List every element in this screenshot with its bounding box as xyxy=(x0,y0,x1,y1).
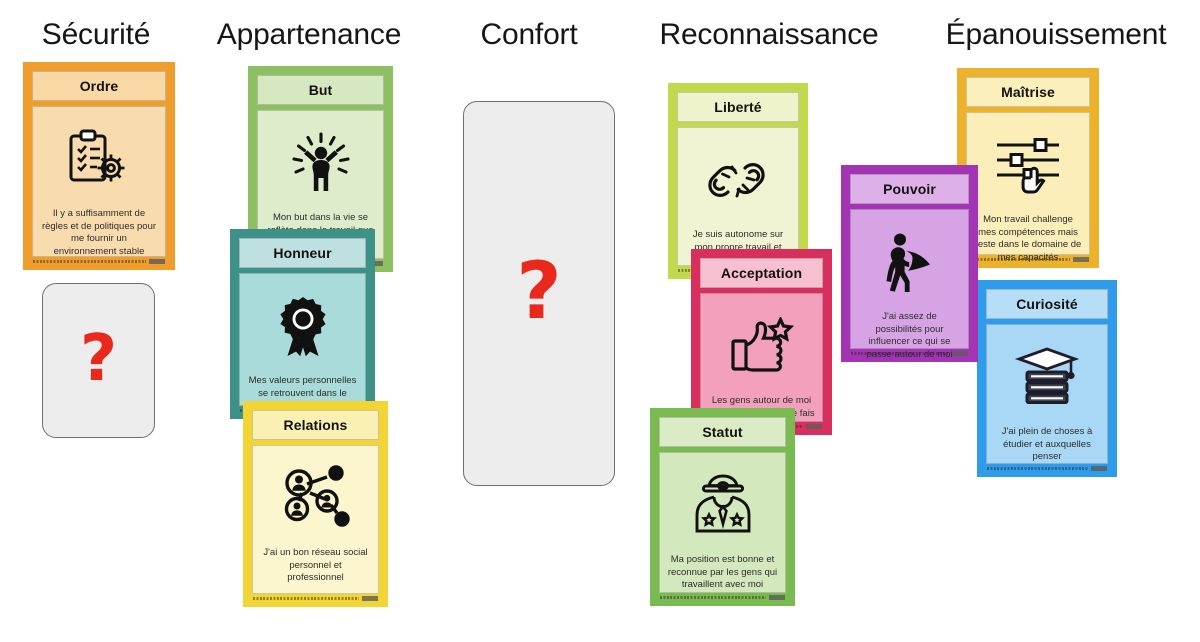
card-ordre[interactable]: Ordre Il y a suffisamment de rè xyxy=(23,62,175,270)
award-rosette-icon xyxy=(247,284,358,368)
card-title-bar: Ordre xyxy=(32,71,166,101)
column-heading-securite: Sécurité xyxy=(0,20,192,50)
footer-logo-mark xyxy=(1073,257,1089,262)
card-description: Il y a suffisamment de règles et de poli… xyxy=(40,208,158,258)
social-network-people-icon xyxy=(260,456,371,540)
footer-logo-mark xyxy=(1091,466,1107,471)
card-title: Maîtrise xyxy=(1001,85,1055,99)
card-title: Relations xyxy=(284,418,348,432)
card-body: J'ai assez de possibilités pour influenc… xyxy=(850,209,969,349)
card-title: But xyxy=(309,83,333,97)
footer-microtext xyxy=(33,260,146,263)
column-heading-reconnaissance: Reconnaissance xyxy=(628,20,910,50)
card-title: Curiosité xyxy=(1016,297,1078,311)
card-curiosite[interactable]: Curiosité xyxy=(977,280,1117,477)
card-title: Liberté xyxy=(714,100,761,114)
card-pouvoir[interactable]: Pouvoir J'ai assez de possibilités pour … xyxy=(841,165,978,362)
card-title-bar: Curiosité xyxy=(986,289,1108,319)
clipboard-checklist-gear-icon xyxy=(40,117,158,201)
card-footer xyxy=(31,257,167,266)
card-body: J'ai un bon réseau social personnel et p… xyxy=(252,445,379,594)
footer-microtext xyxy=(967,258,1070,261)
card-body: Mon travail challenge mes compétences ma… xyxy=(966,112,1090,255)
card-body: Il y a suffisamment de règles et de poli… xyxy=(32,106,166,257)
card-footer xyxy=(985,464,1109,473)
placeholder-card-securite[interactable]: ? xyxy=(42,283,155,438)
card-title: Honneur xyxy=(273,246,331,260)
placeholder-card-confort[interactable]: ? xyxy=(463,101,615,486)
card-title-bar: Liberté xyxy=(677,92,799,122)
card-title: Ordre xyxy=(80,79,119,93)
card-body: Mes valeurs personnelles se retrouvent d… xyxy=(239,273,366,406)
card-statut[interactable]: Statut Ma position est bonne et reconnue… xyxy=(650,408,795,606)
card-footer xyxy=(965,255,1091,264)
question-mark-icon: ? xyxy=(516,253,561,331)
superhero-cape-icon xyxy=(858,220,961,304)
footer-logo-mark xyxy=(769,595,785,600)
footer-logo-mark xyxy=(952,351,968,356)
column-heading-appartenance: Appartenance xyxy=(195,20,423,50)
card-footer xyxy=(849,349,970,358)
card-description: J'ai plein de choses à étudier et auxque… xyxy=(994,426,1100,464)
card-relations[interactable]: Relations xyxy=(243,401,388,607)
card-body: Ma position est bonne et reconnue par le… xyxy=(659,452,786,593)
card-title-bar: Pouvoir xyxy=(850,174,969,204)
celebrating-person-icon xyxy=(265,121,376,205)
card-title-bar: Statut xyxy=(659,417,786,447)
card-title-bar: Acceptation xyxy=(700,258,823,288)
card-footer xyxy=(251,594,380,603)
card-title: Acceptation xyxy=(721,266,802,280)
column-heading-epanouissement: Épanouissement xyxy=(912,20,1200,50)
card-title-bar: Relations xyxy=(252,410,379,440)
breaking-chain-icon xyxy=(685,138,791,222)
card-body: Je suis autonome sur mon propre travail … xyxy=(677,127,799,266)
card-honneur[interactable]: Honneur Mes valeurs personnelles se retr… xyxy=(230,229,375,419)
card-title-bar: Honneur xyxy=(239,238,366,268)
moving-motivators-board: Sécurité Appartenance Confort Reconnaiss… xyxy=(0,0,1200,642)
question-mark-icon: ? xyxy=(80,327,117,391)
card-maitrise[interactable]: Maîtrise Mon travail challenge mes compé… xyxy=(957,68,1099,268)
card-body: Les gens autour de moi approuvent ce que… xyxy=(700,293,823,422)
card-title-bar: But xyxy=(257,75,384,105)
footer-microtext xyxy=(987,467,1088,470)
slider-controls-hand-icon xyxy=(974,123,1082,207)
officer-uniform-icon xyxy=(667,463,778,547)
card-title-bar: Maîtrise xyxy=(966,77,1090,107)
card-title: Pouvoir xyxy=(883,182,936,196)
footer-microtext xyxy=(660,596,766,599)
card-body: J'ai plein de choses à étudier et auxque… xyxy=(986,324,1108,464)
graduation-cap-books-icon xyxy=(994,335,1100,419)
card-description: Ma position est bonne et reconnue par le… xyxy=(667,554,778,592)
footer-logo-mark xyxy=(362,596,378,601)
thumbs-up-star-icon xyxy=(708,304,815,388)
footer-logo-mark xyxy=(149,259,165,264)
column-heading-confort: Confort xyxy=(435,20,623,50)
footer-logo-mark xyxy=(806,424,822,429)
card-footer xyxy=(658,593,787,602)
card-title: Statut xyxy=(702,425,742,439)
card-description: J'ai un bon réseau social personnel et p… xyxy=(260,547,371,585)
footer-microtext xyxy=(851,352,949,355)
footer-microtext xyxy=(253,597,359,600)
